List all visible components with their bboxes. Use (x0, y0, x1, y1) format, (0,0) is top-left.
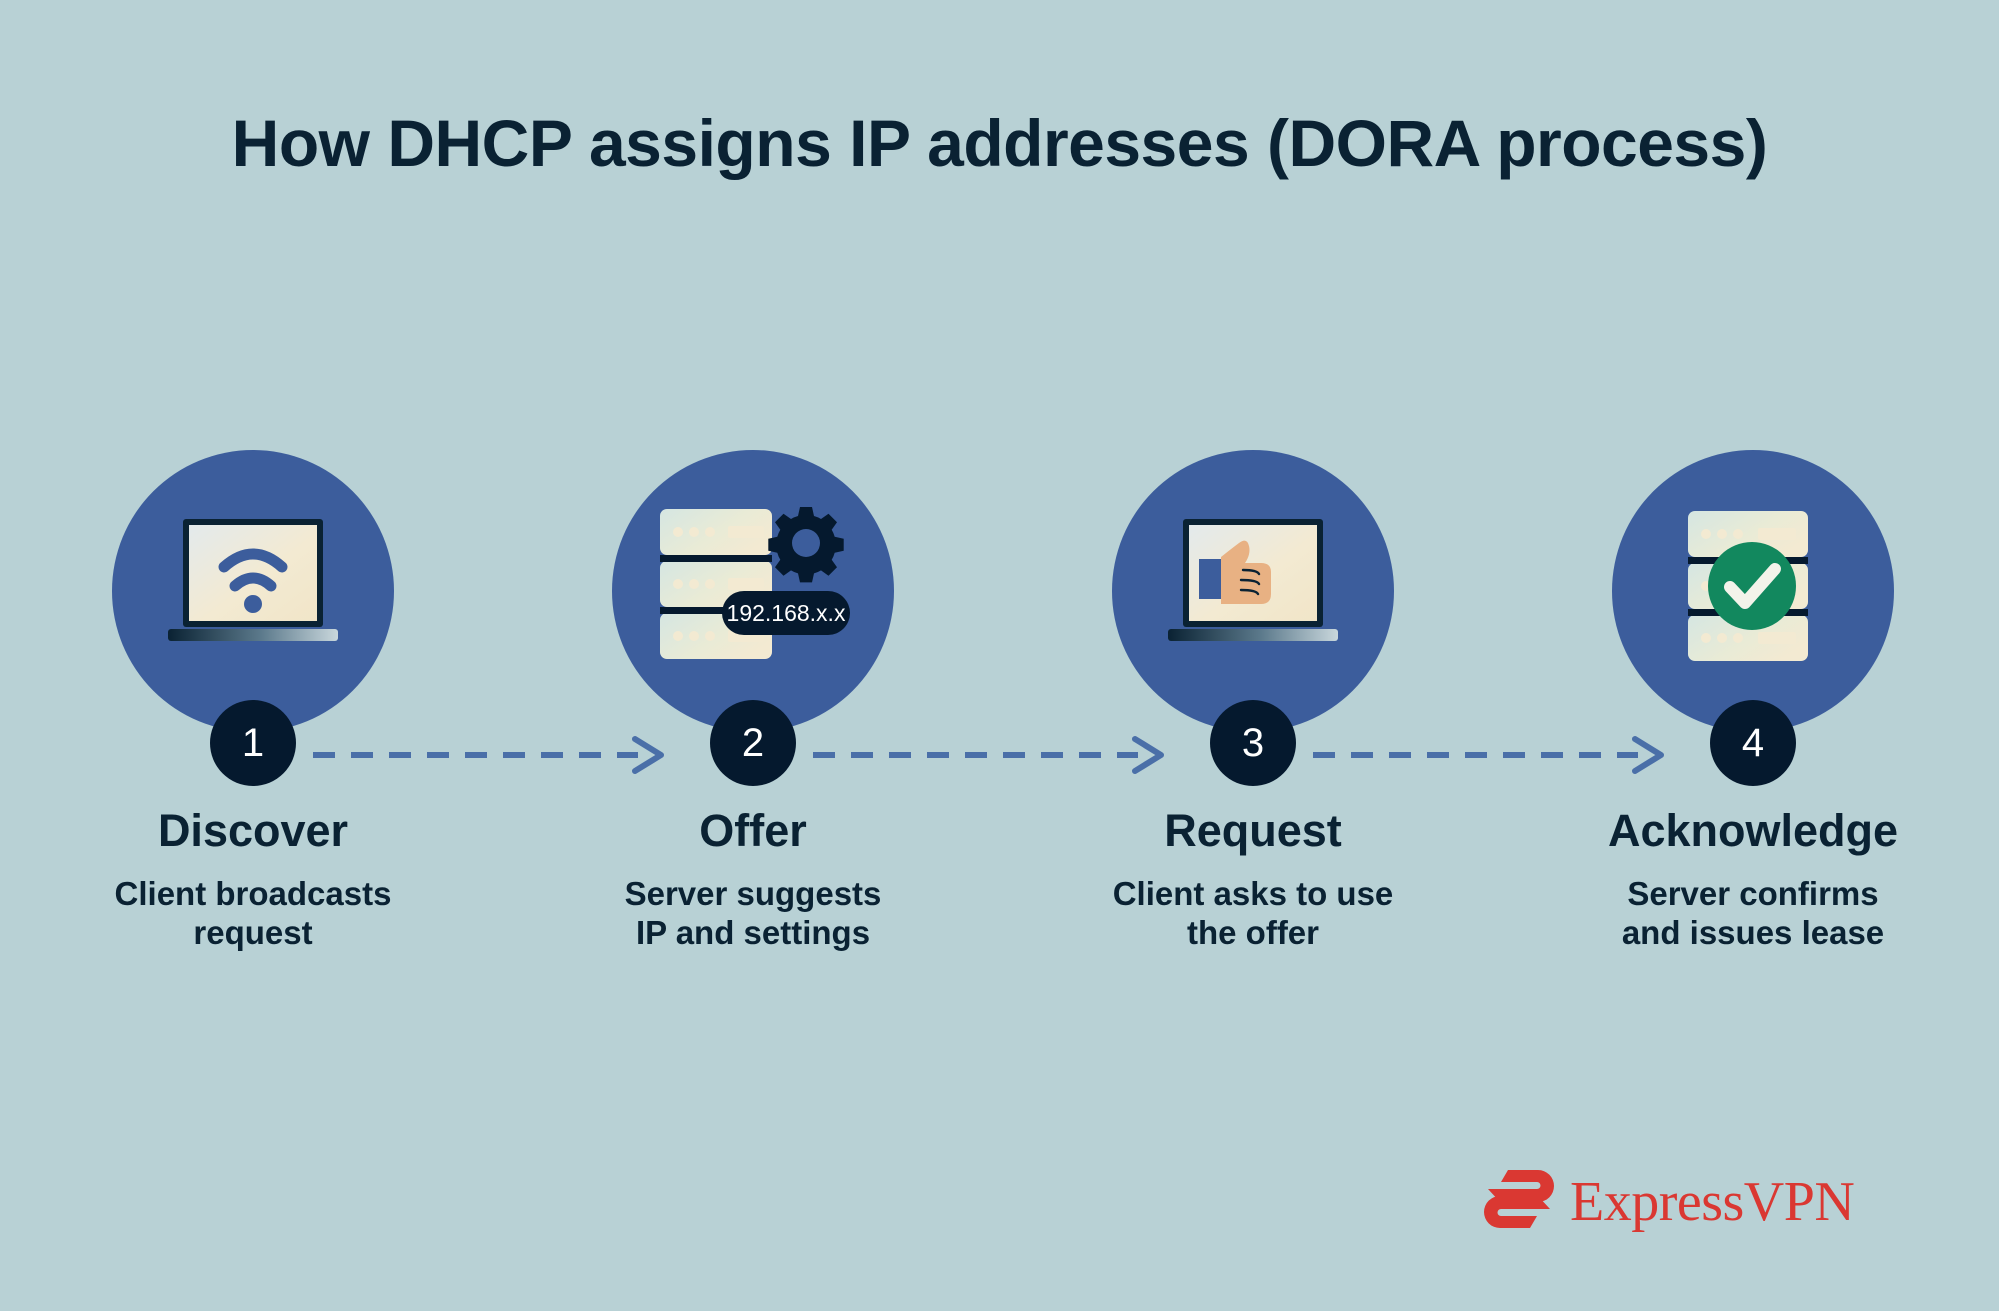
arrow-1-to-2 (313, 735, 673, 775)
step-1-description: Client broadcasts request (3, 875, 503, 953)
arrow-3-to-4 (1313, 735, 1673, 775)
ip-address-text: 192.168.x.x (726, 600, 845, 626)
expressvpn-wordmark: ExpressVPN (1570, 1174, 1854, 1230)
step-3-circle (1112, 450, 1394, 732)
step-1-description-line1: Client broadcasts (3, 875, 503, 914)
step-3-description-line2: the offer (1003, 914, 1503, 953)
step-3-number-badge: 3 (1210, 700, 1296, 786)
page-title: How DHCP assigns IP addresses (DORA proc… (0, 105, 1999, 181)
step-4-description: Server confirms and issues lease (1503, 875, 1999, 953)
infographic-root: How DHCP assigns IP addresses (DORA proc… (0, 0, 1999, 1311)
step-1-circle (112, 450, 394, 732)
laptop-wifi-icon (112, 450, 394, 732)
step-4-description-line2: and issues lease (1503, 914, 1999, 953)
step-1-number-badge: 1 (210, 700, 296, 786)
step-3-label: Request (1003, 805, 1503, 857)
step-2-number-badge: 2 (710, 700, 796, 786)
laptop-thumbs-up-icon (1112, 450, 1394, 732)
step-4-circle (1612, 450, 1894, 732)
step-1-label: Discover (3, 805, 503, 857)
expressvpn-e-mark (1482, 1168, 1556, 1235)
step-2-description-line1: Server suggests (503, 875, 1003, 914)
server-check-icon (1612, 450, 1894, 732)
step-4-description-line1: Server confirms (1503, 875, 1999, 914)
step-1-description-line2: request (3, 914, 503, 953)
step-2-description: Server suggests IP and settings (503, 875, 1003, 953)
step-2-circle: 192.168.x.x (612, 450, 894, 732)
step-4-number-badge: 4 (1710, 700, 1796, 786)
step-2-description-line2: IP and settings (503, 914, 1003, 953)
step-4-label: Acknowledge (1503, 805, 1999, 857)
steps-row: 1 Discover Client broadcasts request (0, 450, 1999, 980)
step-3-description: Client asks to use the offer (1003, 875, 1503, 953)
arrow-2-to-3 (813, 735, 1173, 775)
expressvpn-logo[interactable]: ExpressVPN (1482, 1168, 1854, 1235)
step-3-description-line1: Client asks to use (1003, 875, 1503, 914)
server-gear-icon: 192.168.x.x (612, 450, 894, 732)
step-2-label: Offer (503, 805, 1003, 857)
